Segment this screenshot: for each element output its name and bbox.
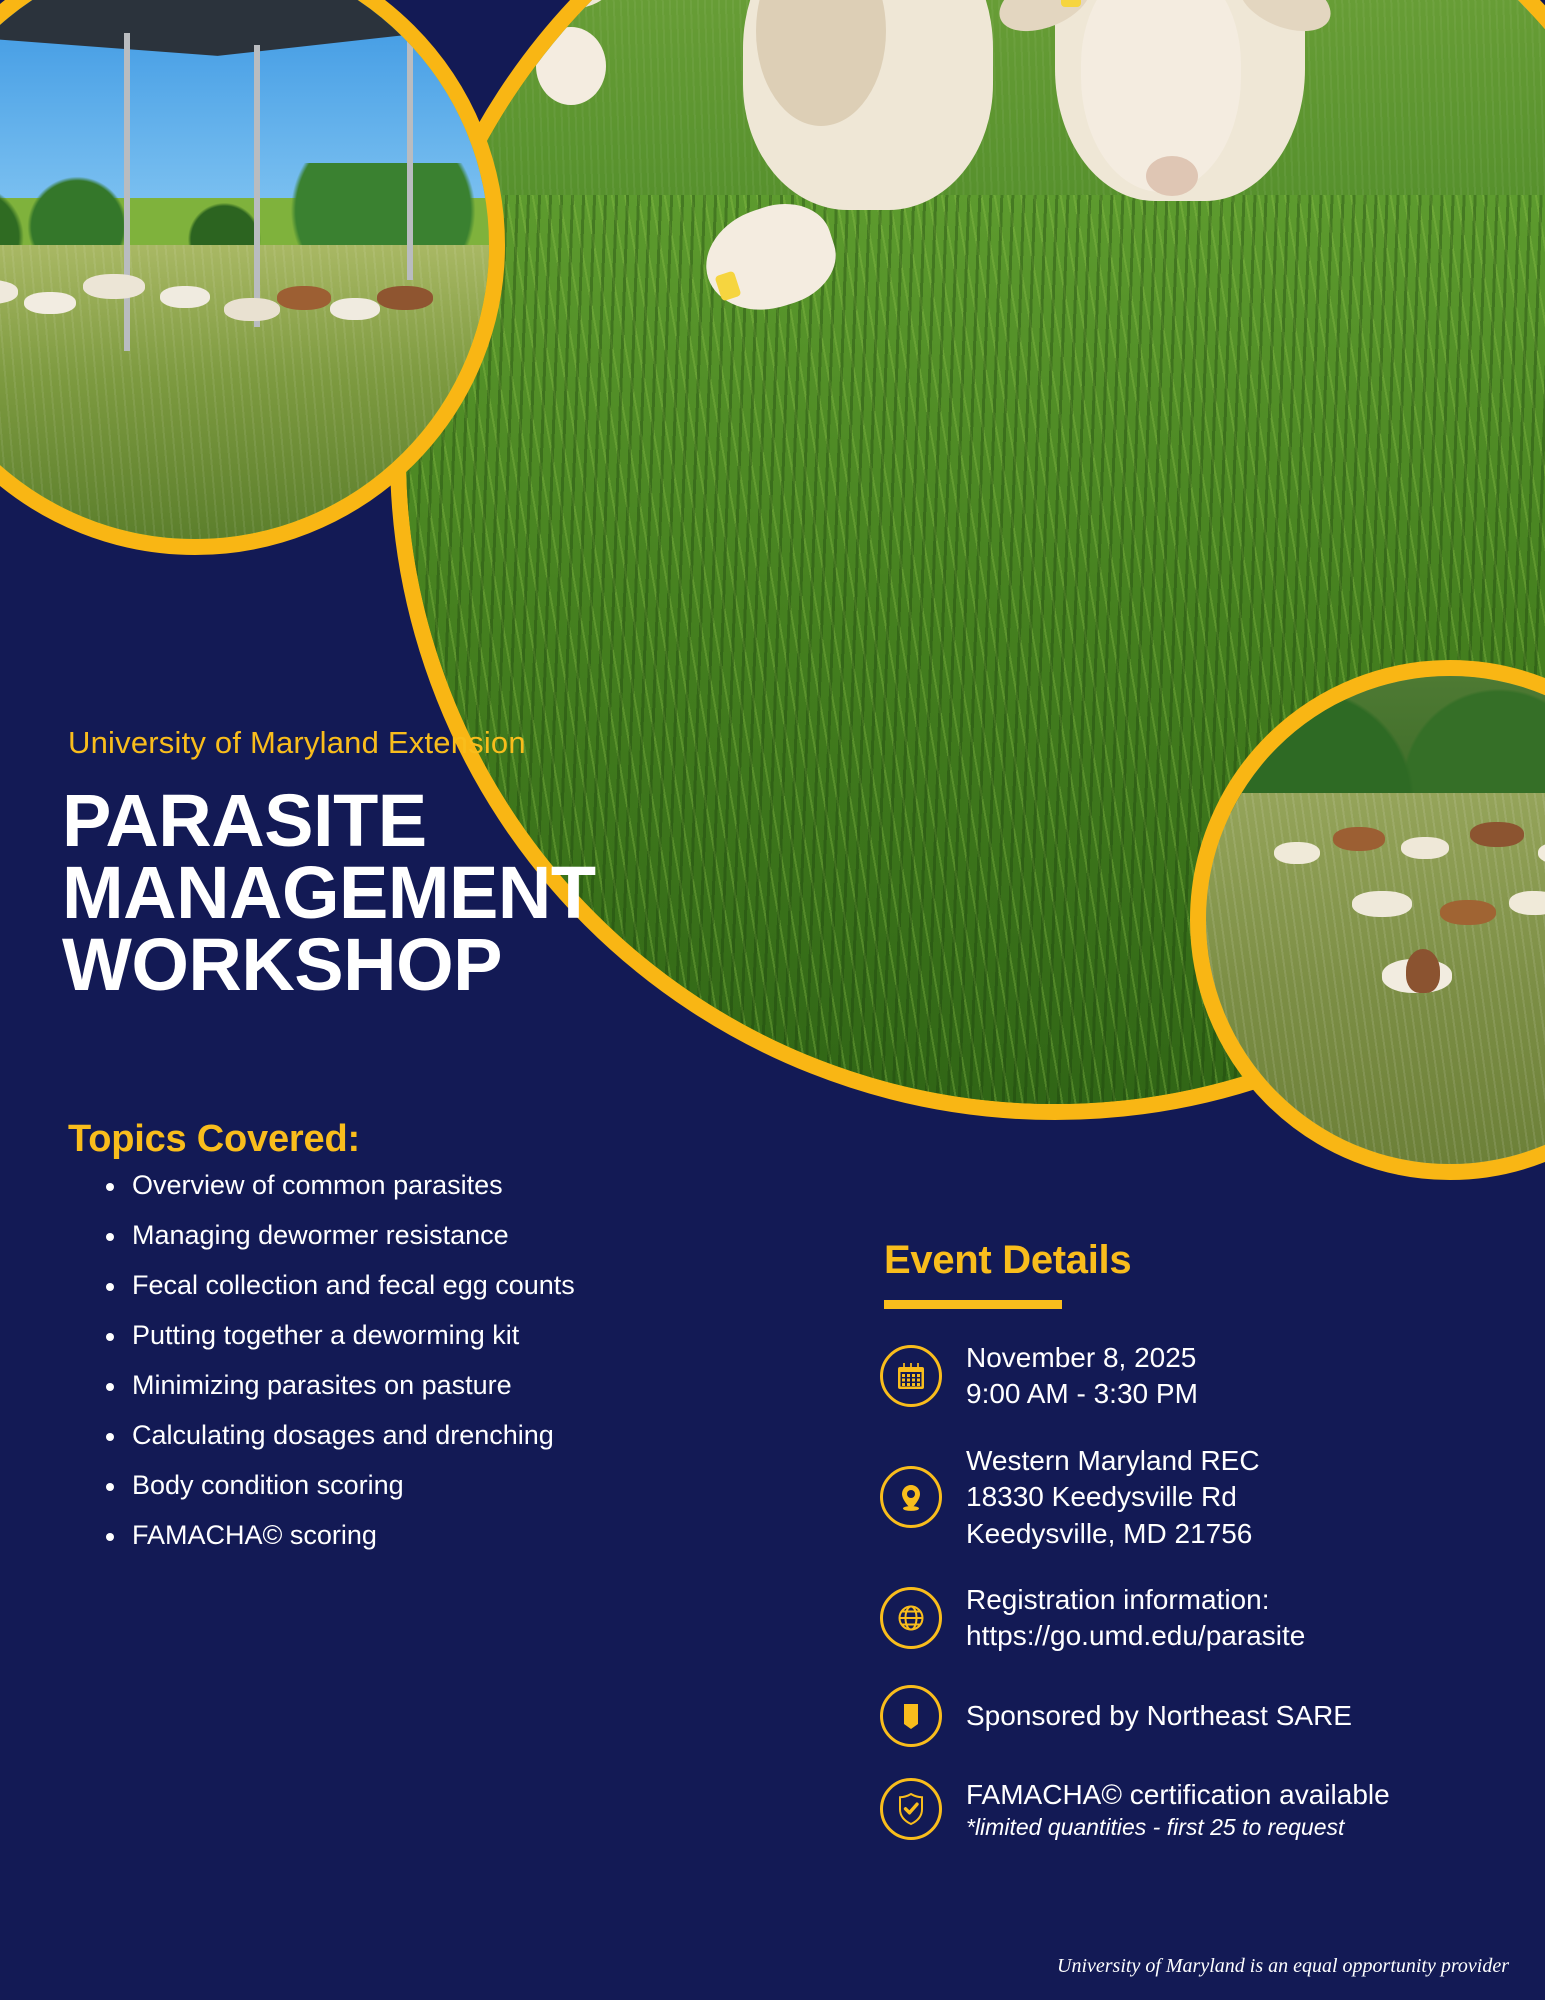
topics-heading: Topics Covered:: [68, 1118, 360, 1161]
poster-root: University of Maryland Extension PARASIT…: [0, 0, 1545, 2000]
topic-list-item: Putting together a deworming kit: [96, 1322, 736, 1349]
topic-list-item: Body condition scoring: [96, 1472, 736, 1499]
goat-herd-on-pasture-photo: [1190, 660, 1545, 1180]
organization-name: University of Maryland Extension: [68, 725, 526, 761]
shield-check-icon: [880, 1778, 942, 1840]
event-detail-text: FAMACHA© certification available*limited…: [966, 1777, 1390, 1842]
calendar-icon: [880, 1345, 942, 1407]
page-title: PARASITE MANAGEMENT WORKSHOP: [62, 785, 722, 1000]
location-pin-icon: [880, 1466, 942, 1528]
event-detail-row: FAMACHA© certification available*limited…: [880, 1777, 1500, 1842]
event-detail-row: Western Maryland REC 18330 Keedysville R…: [880, 1443, 1500, 1552]
title-line-1: PARASITE: [62, 785, 722, 857]
globe-icon: [880, 1587, 942, 1649]
topic-list-item: Minimizing parasites on pasture: [96, 1372, 736, 1399]
event-detail-text: November 8, 2025 9:00 AM - 3:30 PM: [966, 1340, 1198, 1413]
event-detail-row: November 8, 2025 9:00 AM - 3:30 PM: [880, 1340, 1500, 1413]
topic-list-item: Fecal collection and fecal egg counts: [96, 1272, 736, 1299]
title-line-3: WORKSHOP: [62, 929, 722, 1001]
goats-under-shade-structure-photo: [0, 0, 505, 555]
topic-list-item: FAMACHA© scoring: [96, 1522, 736, 1549]
event-details-list: November 8, 2025 9:00 AM - 3:30 PM Weste…: [880, 1340, 1500, 1872]
title-line-2: MANAGEMENT: [62, 857, 722, 929]
equal-opportunity-disclaimer: University of Maryland is an equal oppor…: [1057, 1955, 1509, 1978]
topic-list-item: Calculating dosages and drenching: [96, 1422, 736, 1449]
event-detail-row: Sponsored by Northeast SARE: [880, 1685, 1500, 1747]
topic-list-item: Managing dewormer resistance: [96, 1222, 736, 1249]
topic-list-item: Overview of common parasites: [96, 1172, 736, 1199]
event-detail-text: Western Maryland REC 18330 Keedysville R…: [966, 1443, 1260, 1552]
event-detail-text: Sponsored by Northeast SARE: [966, 1698, 1352, 1734]
shield-banner-icon: [880, 1685, 942, 1747]
topics-list: Overview of common parasitesManaging dew…: [96, 1172, 736, 1572]
event-details-underline: [884, 1300, 1062, 1309]
event-detail-text[interactable]: Registration information: https://go.umd…: [966, 1582, 1305, 1655]
event-detail-subtext: *limited quantities - first 25 to reques…: [966, 1813, 1390, 1842]
event-details-heading: Event Details: [884, 1238, 1131, 1283]
event-detail-row: Registration information: https://go.umd…: [880, 1582, 1500, 1655]
